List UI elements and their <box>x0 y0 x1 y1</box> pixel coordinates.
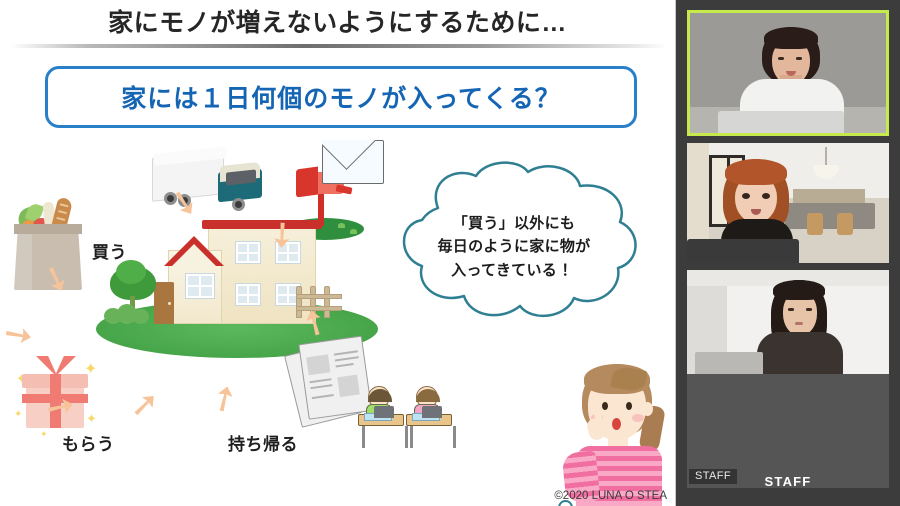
envelope-icon <box>322 140 384 184</box>
participant-3-eye-left <box>788 308 794 311</box>
label-buy: 買う <box>92 238 127 263</box>
thought-line-1: 「買う」以外にも <box>376 212 652 235</box>
virtual-bg-lamp-cord <box>825 147 827 167</box>
participant-3-bangs <box>773 280 825 300</box>
participant-1-bangs <box>764 27 818 49</box>
participant-3-eye-right <box>806 308 812 311</box>
question-text: 家には１日何個のモノが入ってくる？ <box>121 79 561 115</box>
participant-1-eye-left <box>778 57 784 60</box>
participant-name-badge: STAFF <box>689 469 737 484</box>
participant-2-eye-left <box>742 193 750 199</box>
participant-video-panel: STAFF STAFF <box>676 0 900 506</box>
title-divider <box>10 44 667 48</box>
video-tile-3[interactable]: STAFF STAFF <box>687 270 889 488</box>
participant-1-eye-right <box>796 57 802 60</box>
video-tile-1[interactable] <box>687 10 889 136</box>
students-at-desks-icon <box>356 380 464 450</box>
participant-2-eye-right <box>762 193 770 199</box>
slide-header: 家にモノが増えないようにするために… <box>0 0 675 42</box>
video-tile-3-feed <box>687 270 889 374</box>
flow-arrow-bring-home: ➘ <box>202 378 246 420</box>
thought-bubble-text: 「買う」以外にも 毎日のように家に物が 入ってきている ！ <box>376 212 652 282</box>
video-tile-2[interactable] <box>687 143 889 263</box>
participant-3-mouth <box>795 322 803 325</box>
flow-arrow-up: ➘ <box>127 391 161 420</box>
conference-screen-share-window: 家にモノが増えないようにするために… 家には１日何個のモノが入ってくる？ 買う <box>0 0 900 506</box>
participant-2-laptop <box>687 239 799 263</box>
copyright-text: ©2020 LUNA O STEA <box>554 490 667 502</box>
virtual-bg-stool-1 <box>807 213 823 235</box>
page-title: 家にモノが増えないようにするために… <box>108 3 567 39</box>
participant-1-laptop <box>718 111 844 133</box>
thought-bubble: 「買う」以外にも 毎日のように家に物が 入ってきている ！ <box>376 158 652 326</box>
slide-illustration: 買う <box>0 134 676 506</box>
virtual-bg-stool-2 <box>837 213 853 235</box>
question-callout-box: 家には１日何個のモノが入ってくる？ <box>45 66 637 128</box>
thought-line-3: 入ってきている ！ <box>376 259 652 282</box>
virtual-bg-wall <box>687 143 709 239</box>
label-bring-home: 持ち帰る <box>228 430 298 455</box>
virtual-bg-counter <box>785 203 875 229</box>
participant-3-laptop <box>695 352 763 374</box>
thinking-woman-illustration <box>560 356 676 506</box>
bush-icon <box>104 304 150 326</box>
participant-3-body <box>757 332 843 374</box>
thought-line-2: 毎日のように家に物が <box>376 235 652 258</box>
participant-2-bangs <box>725 159 787 185</box>
shared-slide: 家にモノが増えないようにするために… 家には１日何個のモノが入ってくる？ 買う <box>0 0 676 506</box>
label-receive: もらう <box>62 430 115 455</box>
